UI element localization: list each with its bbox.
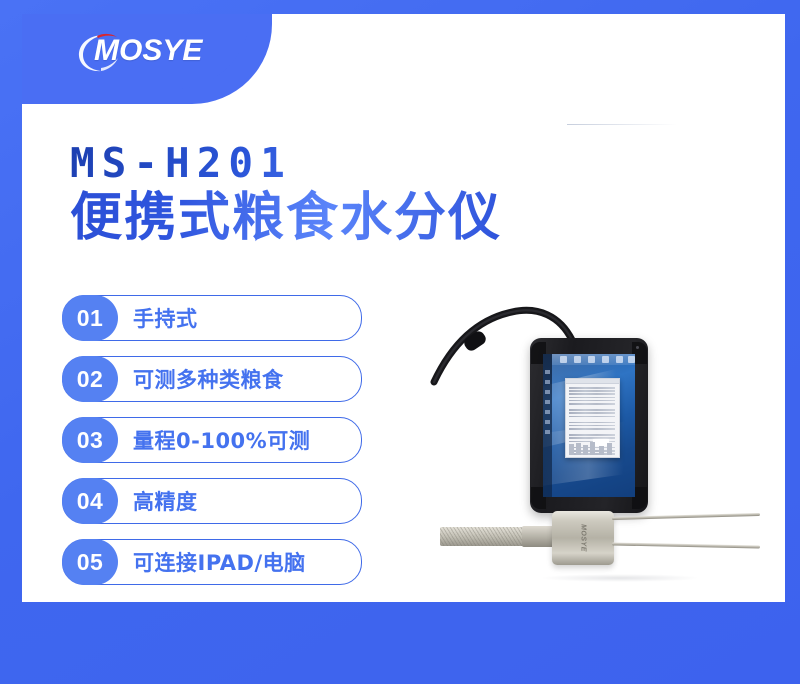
- title-divider: [567, 124, 677, 125]
- rugged-tablet: [530, 338, 648, 513]
- feature-number-badge: 03: [62, 417, 118, 463]
- app-window-titlebar: [566, 379, 619, 384]
- feature-item-4: 04 高精度: [62, 478, 362, 524]
- camera-icon: [636, 346, 639, 349]
- probe-handle: [440, 527, 526, 546]
- feature-label: 手持式: [133, 303, 198, 333]
- feature-label: 可连接IPAD/电脑: [133, 547, 306, 577]
- title-block: MS-H201 便携式粮食水分仪: [70, 142, 502, 247]
- probe-prong: [612, 513, 760, 520]
- brand-logo-text: MOSYE: [94, 34, 202, 68]
- model-number: MS-H201: [70, 142, 502, 185]
- probe-body: MOSYE: [552, 511, 614, 565]
- feature-number-badge: 04: [62, 478, 118, 524]
- app-window-footer: [569, 441, 615, 455]
- feature-item-1: 01 手持式: [62, 295, 362, 341]
- feature-number-badge: 02: [62, 356, 118, 402]
- product-photo: MOSYE: [420, 282, 760, 592]
- tablet-screen: [543, 354, 635, 497]
- feature-item-2: 02 可测多种类粮食: [62, 356, 362, 402]
- probe-neck: [522, 526, 556, 547]
- probe-logo-text: MOSYE: [580, 524, 587, 552]
- probe-prong: [612, 542, 760, 548]
- white-content-card: MOSYE MS-H201 便携式粮食水分仪 01 手持式 02 可测多种类粮食: [22, 14, 785, 602]
- moisture-probe: MOSYE: [430, 500, 760, 580]
- feature-label: 高精度: [133, 486, 198, 516]
- feature-number-badge: 05: [62, 539, 118, 585]
- feature-number-badge: 01: [62, 295, 118, 341]
- feature-item-5: 05 可连接IPAD/电脑: [62, 539, 362, 585]
- product-poster: MOSYE MS-H201 便携式粮食水分仪 01 手持式 02 可测多种类粮食: [0, 0, 800, 684]
- screen-toolbar: [552, 354, 635, 365]
- feature-label: 量程0-100%可测: [133, 425, 310, 455]
- product-title: 便携式粮食水分仪: [70, 189, 502, 247]
- brand-logo: MOSYE: [74, 28, 244, 78]
- feature-list: 01 手持式 02 可测多种类粮食 03 量程0-100%可测 04 高精度 0…: [62, 295, 362, 600]
- screen-app-window: [565, 378, 620, 458]
- feature-item-3: 03 量程0-100%可测: [62, 417, 362, 463]
- product-shadow: [540, 574, 700, 582]
- screen-taskbar: [543, 354, 552, 497]
- feature-label: 可测多种类粮食: [133, 364, 284, 394]
